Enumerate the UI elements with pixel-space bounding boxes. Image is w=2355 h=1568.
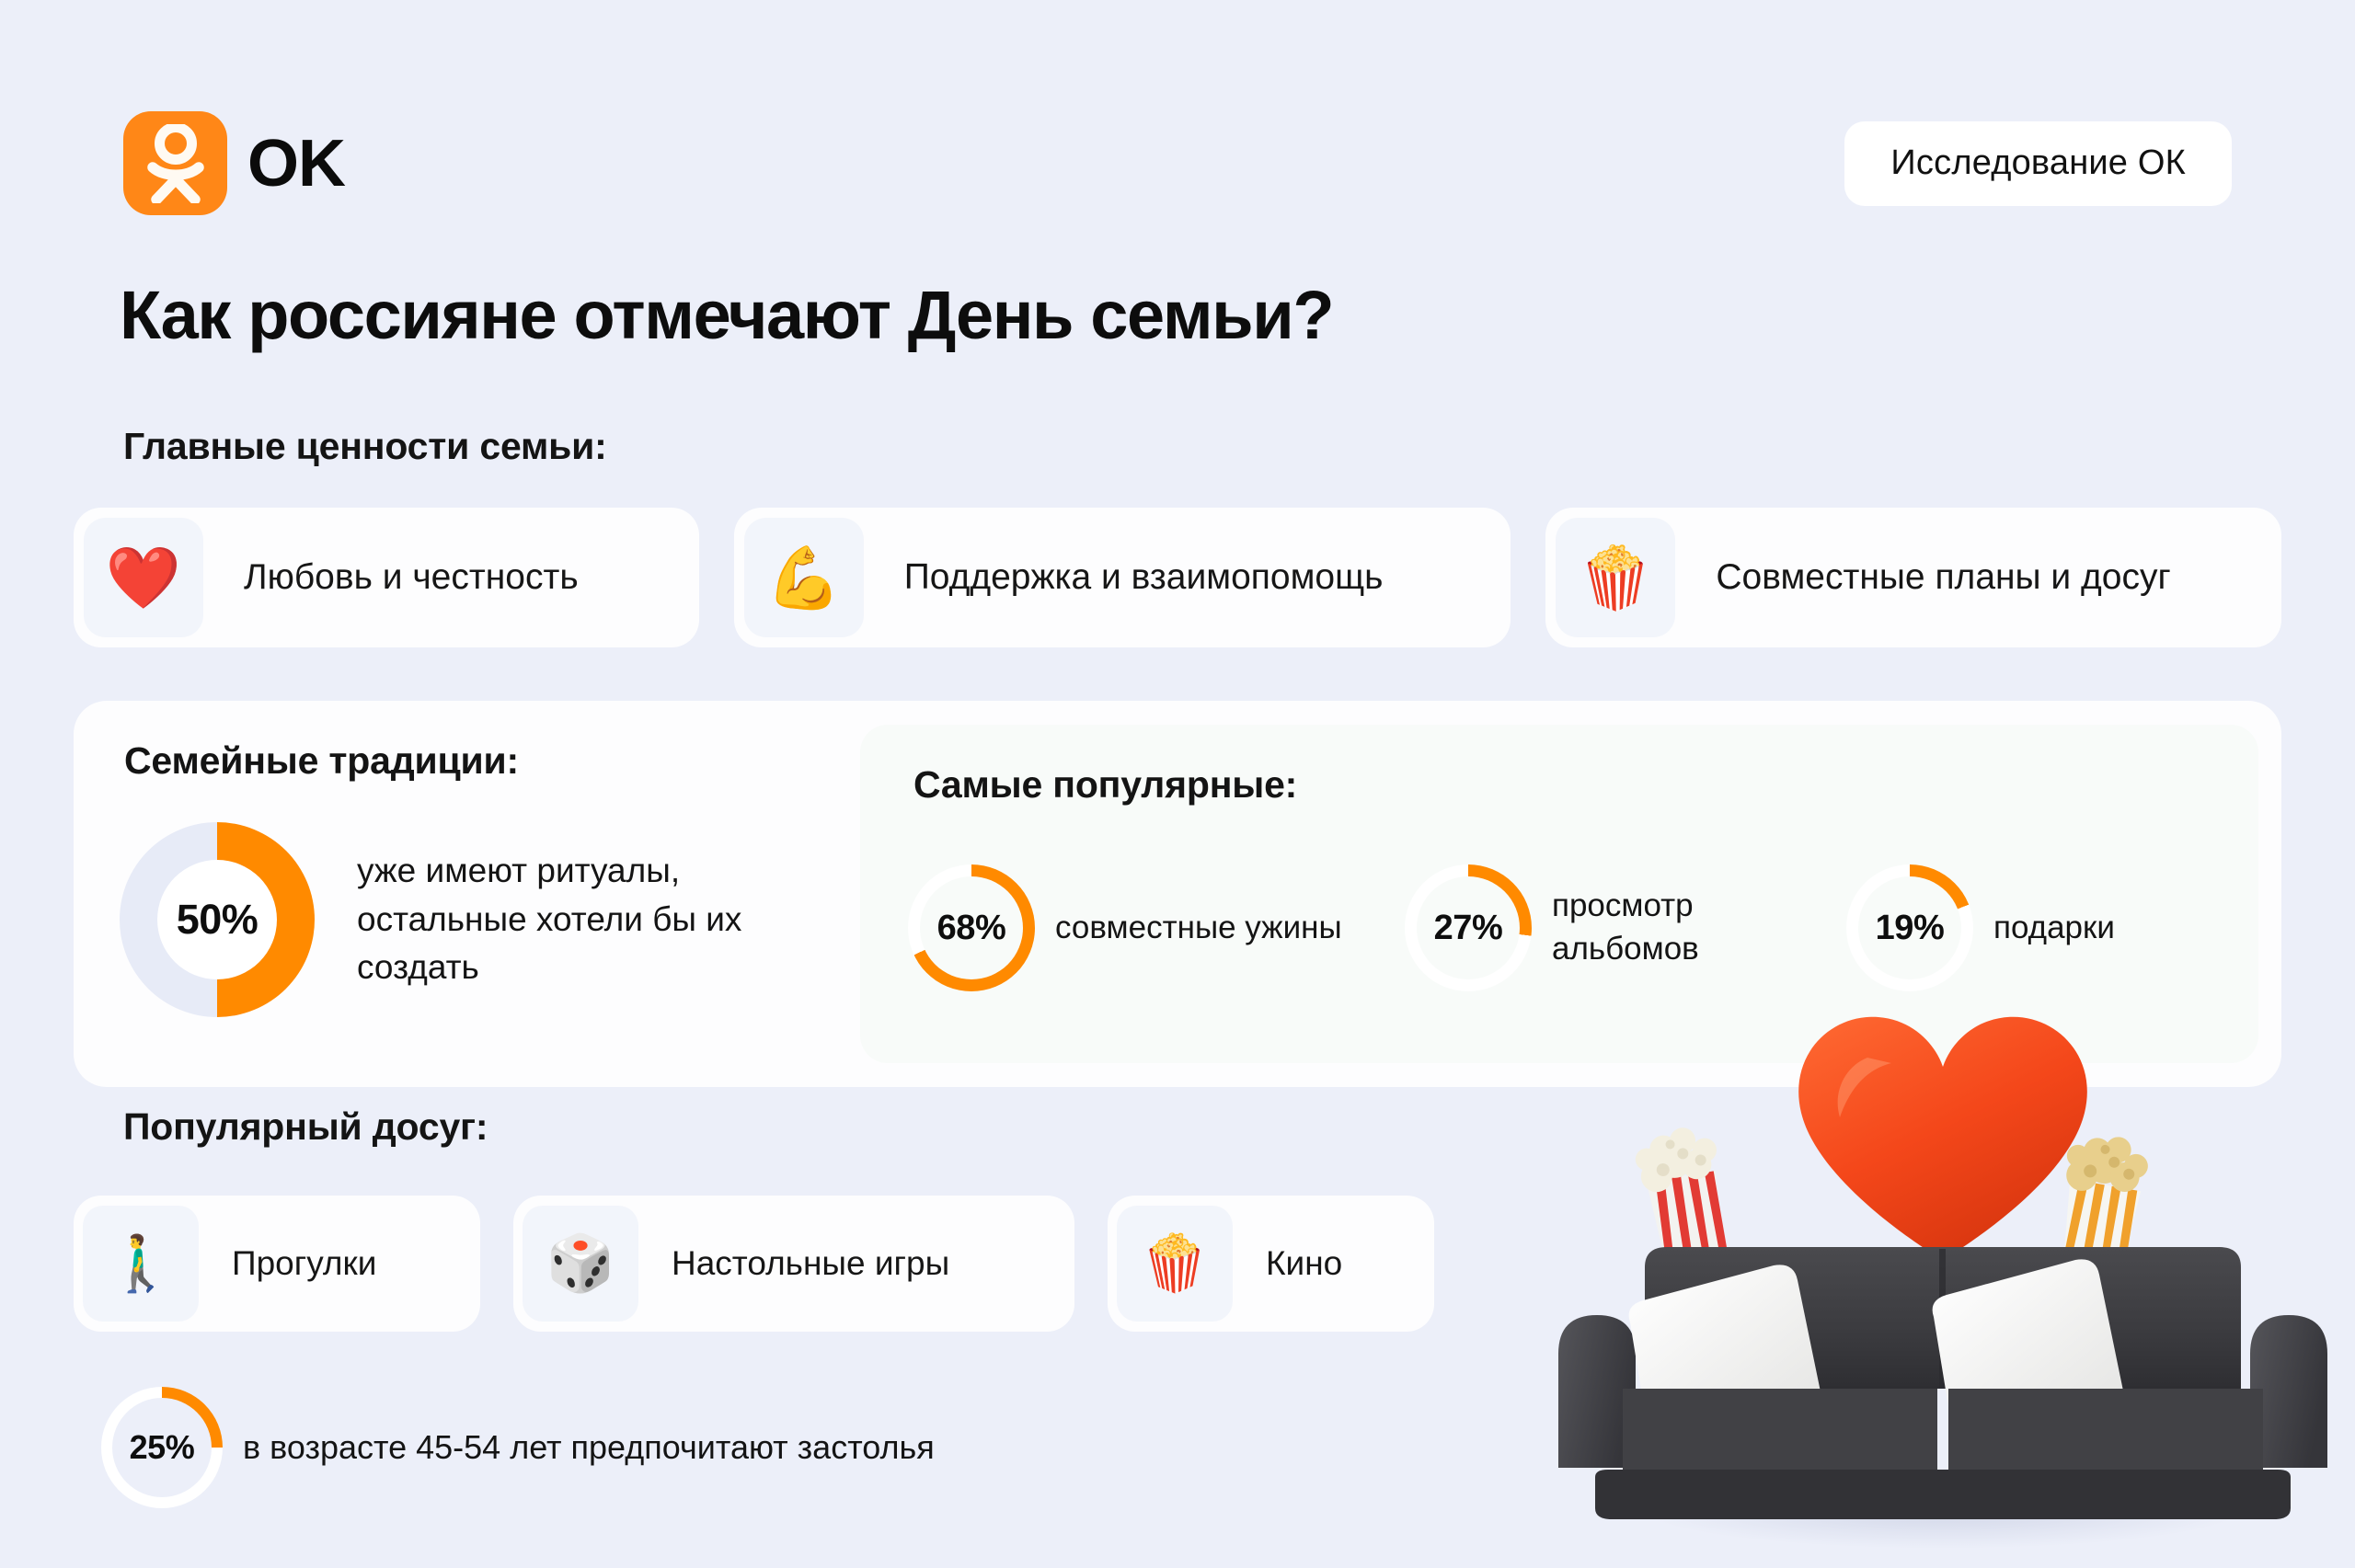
feasts-percent: 25% [130, 1428, 195, 1467]
popular-panel: Самые популярные: 68% совместные ужины 2… [860, 725, 2258, 1063]
popcorn-emoji: 🍿 [1556, 518, 1675, 637]
value-card-love[interactable]: ❤️ Любовь и честность [74, 508, 699, 647]
leisure-card-label: Кино [1266, 1244, 1342, 1283]
heart-emoji-glyph: ❤️ [106, 547, 181, 608]
feasts-label: в возрасте 45-54 лет предпочитают застол… [243, 1428, 935, 1467]
albums-ring-chart: 27% [1405, 864, 1532, 991]
popular-stats-row: 68% совместные ужины 27% просмотр альбом… [908, 864, 2214, 991]
popcorn-emoji-glyph: 🍿 [1141, 1236, 1210, 1291]
popcorn-emoji-glyph: 🍿 [1578, 547, 1653, 608]
people-walking-emoji-glyph: 🚶‍♂️ [107, 1236, 176, 1291]
leisure-card-walks[interactable]: 🚶‍♂️ Прогулки [74, 1196, 480, 1332]
brand-logo-text: OK [247, 131, 345, 197]
value-card-label: Любовь и честность [244, 557, 579, 598]
dinners-ring-chart: 68% [908, 864, 1035, 991]
gifts-ring-center: 19% [1858, 876, 1961, 979]
popcorn-emoji: 🍿 [1117, 1206, 1233, 1322]
dinners-percent: 68% [937, 909, 1006, 948]
dinners-label: совместные ужины [1055, 907, 1342, 950]
game-die-emoji-glyph: 🎲 [546, 1236, 615, 1291]
values-card-row: ❤️ Любовь и честность 💪 Поддержка и взаи… [74, 508, 2281, 647]
infographic-page: OK Исследование ОК Как россияне отмечают… [0, 0, 2355, 1568]
leisure-card-label: Настольные игры [672, 1244, 949, 1283]
traditions-percent: 50% [177, 896, 258, 944]
value-card-support[interactable]: 💪 Поддержка и взаимопомощь [734, 508, 1511, 647]
game-die-emoji: 🎲 [523, 1206, 638, 1322]
popular-stat-dinners: 68% совместные ужины [908, 864, 1405, 991]
value-card-label: Совместные планы и досуг [1716, 557, 2170, 598]
dinners-ring-center: 68% [920, 876, 1023, 979]
traditions-panel: Семейные традиции: 50% уже имеют ритуалы… [74, 701, 2281, 1087]
values-heading: Главные ценности семьи: [123, 425, 607, 468]
albums-percent: 27% [1434, 909, 1503, 948]
popular-stat-gifts: 19% подарки [1846, 864, 2214, 991]
page-title: Как россияне отмечают День семьи? [120, 276, 1333, 354]
flexed-biceps-emoji: 💪 [744, 518, 864, 637]
popular-stat-albums: 27% просмотр альбомов [1405, 864, 1846, 991]
traditions-donut-center: 50% [157, 860, 277, 979]
gifts-label: подарки [1993, 907, 2115, 950]
traditions-donut-chart: 50% [120, 822, 315, 1017]
leisure-card-cinema[interactable]: 🍿 Кино [1108, 1196, 1434, 1332]
feasts-ring-chart: 25% [101, 1387, 223, 1508]
gifts-ring-chart: 19% [1846, 864, 1973, 991]
flexed-biceps-emoji-glyph: 💪 [766, 547, 842, 608]
value-card-plans[interactable]: 🍿 Совместные планы и досуг [1545, 508, 2281, 647]
heart-emoji: ❤️ [84, 518, 203, 637]
traditions-heading: Семейные традиции: [124, 739, 519, 783]
leisure-card-label: Прогулки [232, 1244, 376, 1283]
traditions-stat: 50% уже имеют ритуалы, остальные хотели … [120, 822, 789, 1017]
people-walking-emoji: 🚶‍♂️ [83, 1206, 199, 1322]
research-badge: Исследование ОК [1844, 121, 2232, 206]
brand-logo: OK [123, 111, 345, 215]
value-card-label: Поддержка и взаимопомощь [904, 557, 1384, 598]
feasts-ring-center: 25% [112, 1398, 212, 1497]
ok-logo-icon [123, 111, 227, 215]
traditions-description: уже имеют ритуалы, остальные хотели бы и… [357, 847, 789, 992]
leisure-card-board-games[interactable]: 🎲 Настольные игры [513, 1196, 1074, 1332]
gifts-percent: 19% [1876, 909, 1945, 948]
albums-ring-center: 27% [1417, 876, 1520, 979]
bottom-stat: 25% в возрасте 45-54 лет предпочитают за… [101, 1387, 935, 1508]
leisure-card-row: 🚶‍♂️ Прогулки 🎲 Настольные игры 🍿 Кино [74, 1196, 1434, 1332]
popular-heading: Самые популярные: [913, 763, 1297, 807]
header: OK Исследование ОК [123, 115, 2232, 212]
leisure-heading: Популярный досуг: [123, 1105, 488, 1149]
albums-label: просмотр альбомов [1552, 885, 1846, 971]
